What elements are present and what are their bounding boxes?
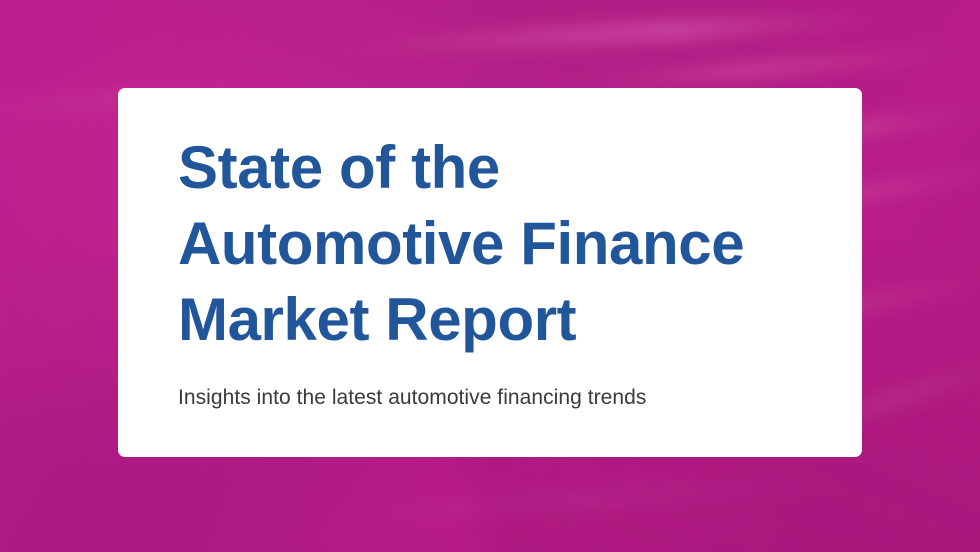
title-card: State of the Automotive Finance Market R…	[118, 88, 862, 457]
page-subtitle: Insights into the latest automotive fina…	[178, 358, 806, 412]
page-title: State of the Automotive Finance Market R…	[178, 130, 806, 358]
report-title-slide: State of the Automotive Finance Market R…	[0, 0, 980, 552]
